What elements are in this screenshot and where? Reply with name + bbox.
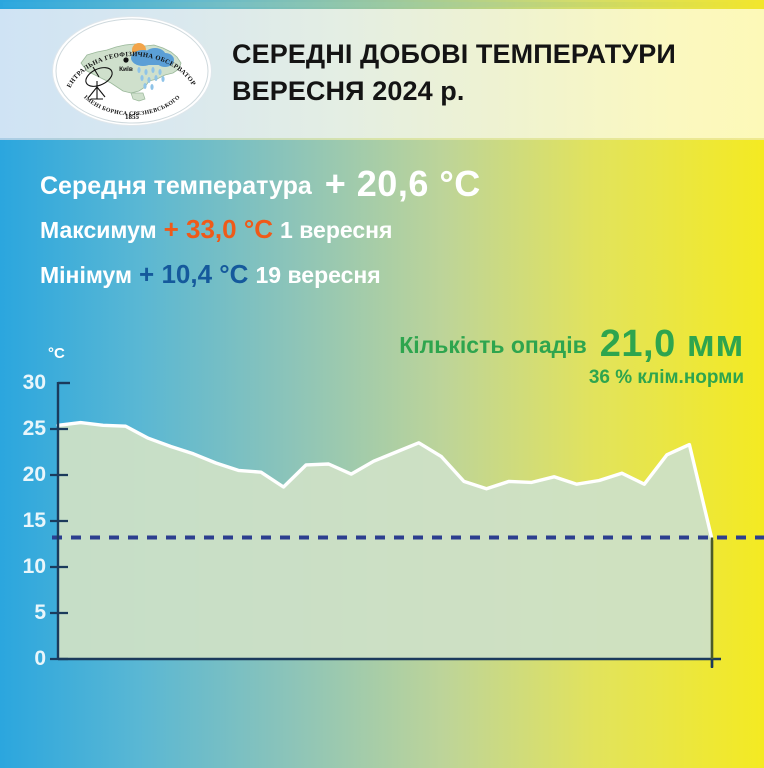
min-temp-date: 19 вересня: [255, 262, 380, 288]
min-temp-row: Мінімум+ 10,4 °C19 вересня: [40, 252, 740, 297]
y-axis-tick-25: 25: [10, 418, 46, 439]
page-title: СЕРЕДНІ ДОБОВІ ТЕМПЕРАТУРИ ВЕРЕСНЯ 2024 …: [232, 36, 752, 110]
temperature-line: [58, 423, 712, 540]
precip-line-1: Кількість опадів21,0 мм: [399, 326, 744, 363]
max-temp-row: Максимум+ 33,0 °C1 вересня: [40, 207, 740, 252]
infographic-poster: Київ ЦЕНТРАЛЬНА ГЕОФІЗИЧНА ОБСЕРВАТОРІЯ …: [0, 0, 764, 768]
precip-norm: 36 % клім.норми: [399, 363, 744, 393]
precipitation-block: Кількість опадів21,0 мм 36 % клім.норми: [399, 326, 744, 393]
logo-year: 1855: [125, 113, 140, 121]
avg-temp-row: Середня температура+ 20,6 °C: [40, 163, 740, 207]
kyiv-label: Київ: [119, 66, 133, 73]
y-axis-tick-10: 10: [10, 556, 46, 577]
logo-svg: Київ ЦЕНТРАЛЬНА ГЕОФІЗИЧНА ОБСЕРВАТОРІЯ …: [53, 17, 211, 125]
y-axis-tick-30: 30: [10, 372, 46, 393]
observatory-logo: Київ ЦЕНТРАЛЬНА ГЕОФІЗИЧНА ОБСЕРВАТОРІЯ …: [53, 17, 211, 125]
y-axis-unit-label: °C: [48, 345, 65, 362]
avg-temp-label: Середня температура: [40, 172, 312, 200]
y-axis-tick-15: 15: [10, 510, 46, 531]
summary-stats: Середня температура+ 20,6 °C Максимум+ 3…: [40, 163, 740, 297]
y-axis-tick-20: 20: [10, 464, 46, 485]
precip-label: Кількість опадів: [399, 332, 587, 358]
max-temp-value: + 33,0 °C: [164, 214, 273, 244]
max-temp-label: Максимум: [40, 217, 157, 243]
top-accent-strip: [0, 0, 764, 9]
y-axis-tick-5: 5: [10, 602, 46, 623]
precip-value: 21,0 мм: [600, 323, 744, 365]
title-line-1: СЕРЕДНІ ДОБОВІ ТЕМПЕРАТУРИ: [232, 39, 676, 69]
title-line-2: ВЕРЕСНЯ 2024 р.: [232, 73, 752, 110]
min-temp-label: Мінімум: [40, 262, 132, 288]
temperature-area-fill: [58, 423, 712, 659]
min-temp-value: + 10,4 °C: [139, 259, 248, 289]
max-temp-date: 1 вересня: [280, 217, 392, 243]
avg-temp-value: + 20,6 °C: [325, 163, 481, 204]
top-accent-strip-inner: [3, 2, 761, 7]
y-axis-tick-0: 0: [10, 648, 46, 669]
